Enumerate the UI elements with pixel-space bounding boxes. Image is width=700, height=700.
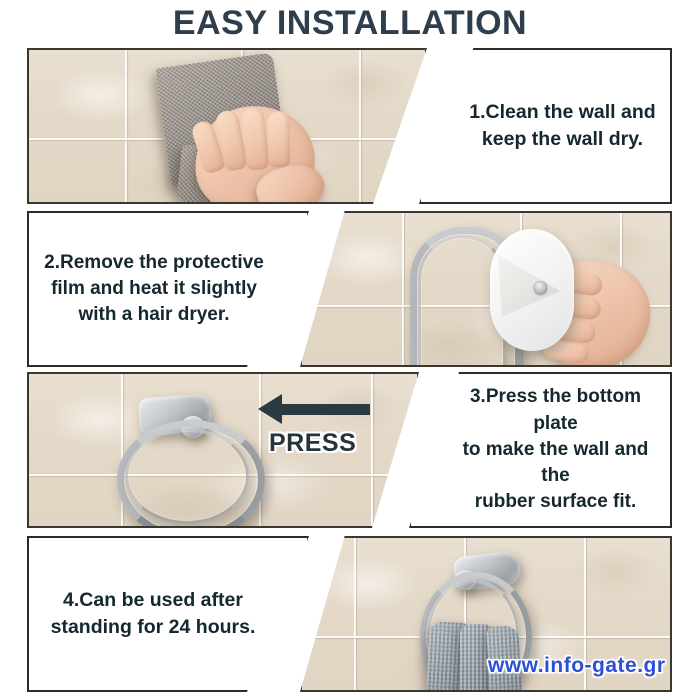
step-1-photo	[27, 48, 427, 204]
adhesive-plate	[490, 229, 574, 351]
protective-film	[498, 255, 560, 317]
infographic-page: EASY INSTALLATION 1.Clean the wall and	[0, 0, 700, 700]
step-2-photo	[300, 211, 672, 367]
towel-ring-highlight	[125, 428, 249, 524]
step-3-photo: PRESS	[27, 372, 419, 528]
press-arrow-shaft	[282, 404, 370, 415]
step-row-3: PRESS 3.Press the bottom plate to make t…	[0, 372, 700, 528]
step-1-textbox: 1.Clean the wall and keep the wall dry.	[419, 48, 672, 204]
step-row-2: 2.Remove the protective film and heat it…	[0, 211, 700, 367]
step-2-textbox: 2.Remove the protective film and heat it…	[27, 211, 309, 367]
step-4-textbox: 4.Can be used after standing for 24 hour…	[27, 536, 309, 692]
step-4-text: 4.Can be used after standing for 24 hour…	[41, 587, 266, 641]
step-2-text: 2.Remove the protective film and heat it…	[34, 250, 274, 329]
step-3-textbox: 3.Press the bottom plate to make the wal…	[409, 372, 672, 528]
step-4-photo: www.info-gate.gr	[300, 536, 672, 692]
step-3-text: 3.Press the bottom plate to make the wal…	[441, 384, 670, 515]
press-label: PRESS	[269, 429, 356, 458]
watermark: www.info-gate.gr	[488, 654, 666, 678]
screw-icon	[534, 281, 547, 294]
step-row-4: 4.Can be used after standing for 24 hour…	[0, 536, 700, 692]
press-arrow-head	[258, 394, 282, 424]
page-title: EASY INSTALLATION	[0, 0, 700, 46]
step-1-text: 1.Clean the wall and keep the wall dry.	[459, 99, 665, 153]
step-row-1: 1.Clean the wall and keep the wall dry.	[0, 48, 700, 204]
